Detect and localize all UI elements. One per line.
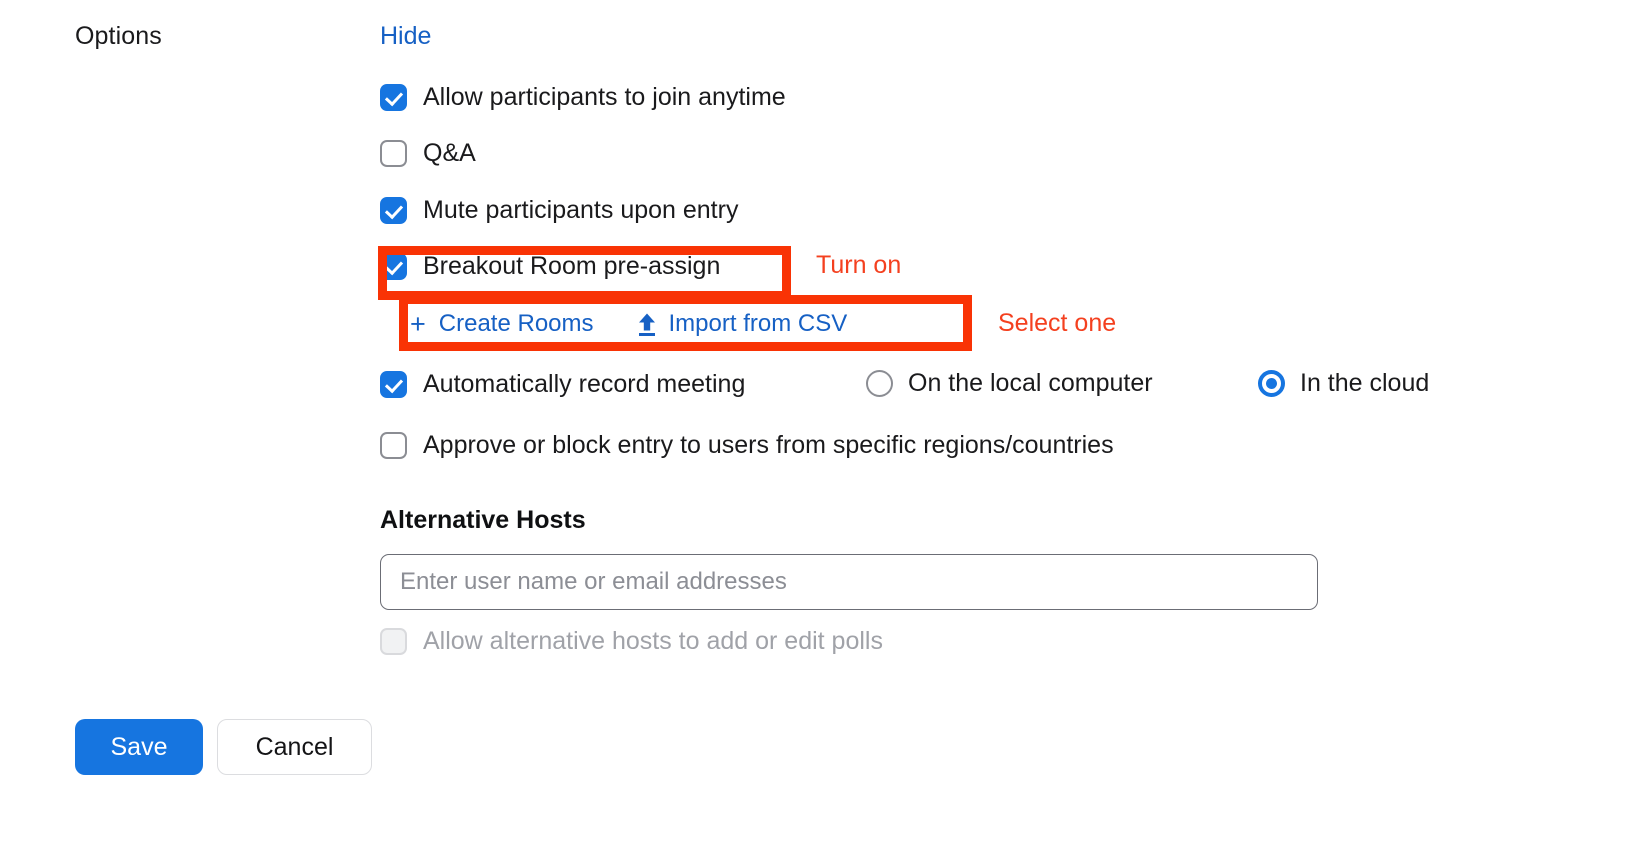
radio-row-in-the-cloud[interactable]: In the cloud — [1258, 368, 1429, 398]
import-from-csv-button[interactable]: Import from CSV — [636, 310, 848, 338]
alternative-hosts-input[interactable] — [380, 554, 1318, 610]
option-label-auto-record: Automatically record meeting — [423, 369, 745, 399]
radio-label-in-the-cloud: In the cloud — [1300, 368, 1429, 398]
upload-icon — [636, 312, 658, 337]
radio-in-the-cloud[interactable] — [1258, 370, 1285, 397]
option-row-allow-join-anytime[interactable]: Allow participants to join anytime — [380, 81, 786, 113]
checkbox-mute-on-entry[interactable] — [380, 197, 407, 224]
option-label-allow-join-anytime: Allow participants to join anytime — [423, 82, 786, 112]
radio-label-local-computer: On the local computer — [908, 368, 1153, 398]
plus-icon: + — [410, 311, 426, 338]
cancel-button[interactable]: Cancel — [217, 719, 372, 775]
checkbox-auto-record[interactable] — [380, 371, 407, 398]
radio-local-computer[interactable] — [866, 370, 893, 397]
import-from-csv-label: Import from CSV — [669, 310, 848, 338]
hide-options-link[interactable]: Hide — [380, 21, 431, 51]
create-rooms-button[interactable]: + Create Rooms — [410, 310, 594, 338]
save-button[interactable]: Save — [75, 719, 203, 775]
checkbox-breakout-room-preassign[interactable] — [380, 253, 407, 280]
create-rooms-label: Create Rooms — [439, 310, 594, 338]
breakout-room-actions: + Create Rooms Import from CSV — [410, 306, 847, 342]
option-label-mute-on-entry: Mute participants upon entry — [423, 195, 738, 225]
option-row-alt-hosts-edit-polls: Allow alternative hosts to add or edit p… — [380, 625, 883, 657]
options-panel: Options Hide Allow participants to join … — [0, 0, 1640, 844]
annotation-select-one: Select one — [998, 308, 1116, 338]
alternative-hosts-heading: Alternative Hosts — [380, 505, 586, 535]
option-row-breakout-room-preassign[interactable]: Breakout Room pre-assign — [380, 250, 720, 282]
page-title: Options — [75, 21, 162, 51]
option-row-mute-on-entry[interactable]: Mute participants upon entry — [380, 194, 738, 226]
option-row-qa[interactable]: Q&A — [380, 137, 476, 169]
checkbox-alt-hosts-edit-polls — [380, 628, 407, 655]
annotation-turn-on: Turn on — [816, 250, 901, 280]
option-label-breakout-room-preassign: Breakout Room pre-assign — [423, 251, 720, 281]
option-row-auto-record[interactable]: Automatically record meeting — [380, 368, 745, 400]
checkbox-approve-block-entry[interactable] — [380, 432, 407, 459]
checkbox-qa[interactable] — [380, 140, 407, 167]
option-label-qa: Q&A — [423, 138, 476, 168]
radio-row-local-computer[interactable]: On the local computer — [866, 368, 1153, 398]
checkbox-allow-join-anytime[interactable] — [380, 84, 407, 111]
option-row-approve-block-entry[interactable]: Approve or block entry to users from spe… — [380, 429, 1114, 461]
option-label-alt-hosts-edit-polls: Allow alternative hosts to add or edit p… — [423, 626, 883, 656]
option-label-approve-block-entry: Approve or block entry to users from spe… — [423, 430, 1114, 460]
